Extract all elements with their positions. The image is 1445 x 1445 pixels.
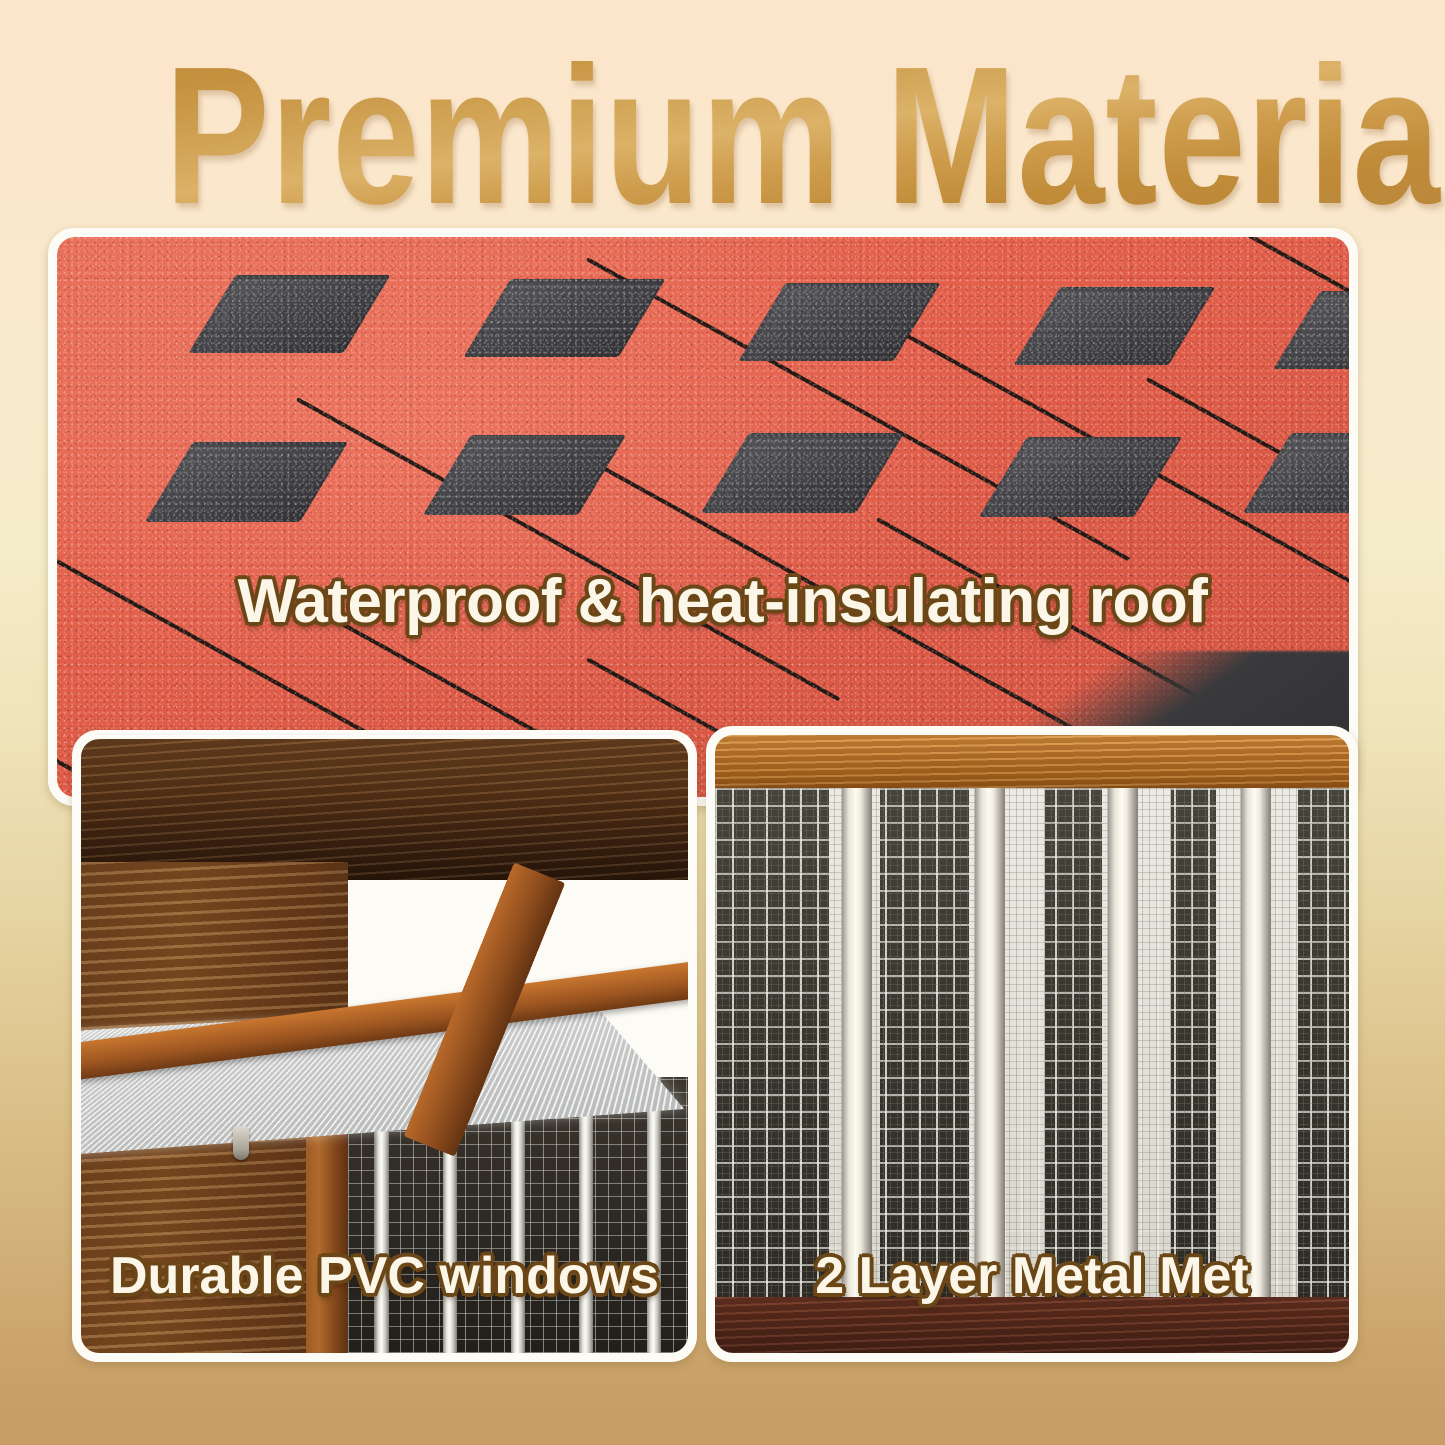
hutch-metal-bar <box>579 1077 593 1353</box>
metal-bar <box>1241 788 1271 1301</box>
poster-title-text: Premium Material <box>165 38 1445 234</box>
hutch-top-rail <box>715 735 1349 791</box>
mesh-caption: 2 Layer Metal Met <box>706 1246 1358 1306</box>
pvc-caption: Durable PVC windows <box>72 1246 697 1306</box>
mesh-panel <box>715 788 1349 1301</box>
metal-bar <box>1108 788 1138 1301</box>
roof-caption: Waterproof & heat-insulating roof <box>0 566 1445 637</box>
roof-shingles-image <box>57 237 1349 797</box>
hutch-metal-bar <box>647 1077 661 1353</box>
premium-material-poster: Premium Material <box>0 0 1445 1445</box>
hutch-upper-wall <box>81 739 688 880</box>
roof-shingles-photo <box>48 228 1358 806</box>
metal-bar <box>975 788 1005 1301</box>
hutch-latch-hook <box>233 1126 249 1160</box>
poster-title: Premium Material <box>0 38 1445 234</box>
metal-bar <box>842 788 872 1301</box>
